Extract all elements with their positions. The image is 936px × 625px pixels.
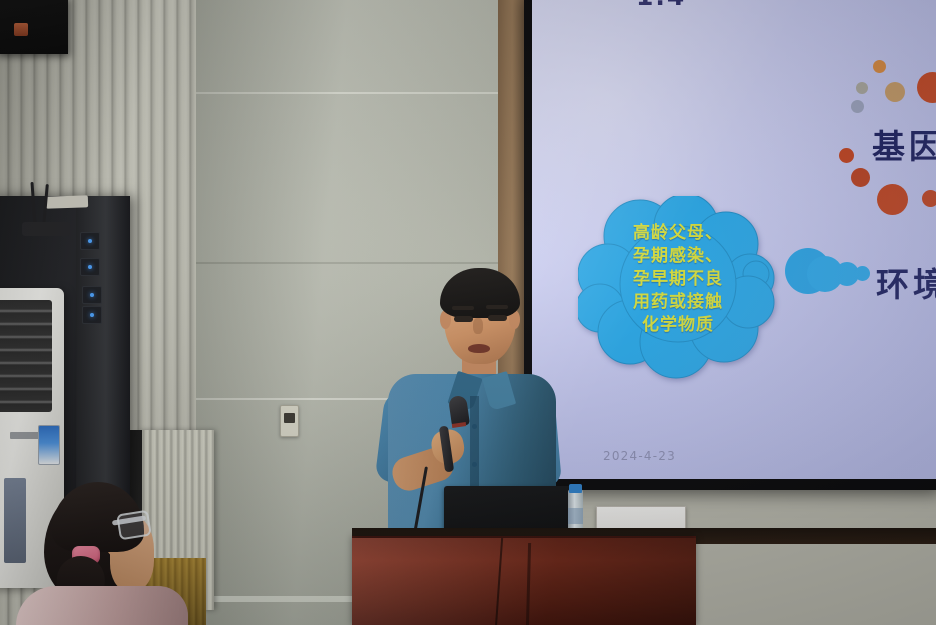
presenter-nose bbox=[473, 318, 483, 334]
speaker-logo-icon bbox=[14, 23, 28, 36]
presenter-eyebrow-left bbox=[452, 306, 474, 310]
slide-dot-gene bbox=[873, 60, 886, 73]
presenter-mouth bbox=[468, 344, 490, 353]
audience-shirt-shading bbox=[16, 586, 188, 625]
slide-dot-gene bbox=[877, 184, 908, 215]
slide-dot-gene bbox=[885, 82, 905, 102]
energy-efficiency-label bbox=[38, 425, 60, 465]
cloud-line: 用药或接触 bbox=[592, 291, 764, 314]
thought-cloud-text: 高龄父母、 孕期感染、 孕早期不良 用药或接触 化学物质 bbox=[592, 222, 764, 337]
slide-dot-gene bbox=[917, 72, 936, 103]
presenter-shirt-button bbox=[472, 462, 477, 467]
rack-status-led bbox=[82, 286, 102, 304]
presenter-eye-right bbox=[488, 315, 507, 321]
slide-dot-gene bbox=[922, 190, 936, 207]
slide-label-environment: 环境 bbox=[876, 258, 936, 306]
air-conditioner-control-panel bbox=[4, 478, 26, 563]
cloud-line: 高龄父母、 bbox=[592, 222, 764, 245]
rack-status-led bbox=[82, 306, 102, 324]
cloud-line: 孕早期不良 bbox=[592, 268, 764, 291]
rack-top-device bbox=[46, 195, 88, 208]
cloud-line: 化学物质 bbox=[592, 314, 764, 337]
lecture-photo: 1.4 高龄父母、 孕期感染、 孕早期不良 用药或接触 化学物质 bbox=[0, 0, 936, 625]
presenter-shirt-button bbox=[472, 424, 477, 429]
slide-dot-environment bbox=[855, 266, 870, 281]
cloud-line: 孕期感染、 bbox=[592, 245, 764, 268]
wall-speaker bbox=[0, 0, 68, 54]
slide-dot-gene bbox=[839, 148, 854, 163]
slide-dot-gene bbox=[851, 168, 870, 187]
slide-dot-gene bbox=[851, 100, 864, 113]
air-conditioner-grille bbox=[0, 300, 52, 412]
rack-status-led bbox=[80, 258, 100, 276]
wireless-router bbox=[22, 222, 70, 236]
podium-shading bbox=[352, 538, 696, 625]
rack-status-led bbox=[80, 232, 100, 250]
slide-date: 2024-4-23 bbox=[603, 449, 676, 463]
presenter-eyebrow-right bbox=[486, 305, 508, 309]
water-bottle-label bbox=[568, 508, 583, 524]
slide-label-gene: 基因 bbox=[872, 120, 936, 168]
slide-dot-gene bbox=[856, 82, 868, 94]
slide-title: 1.4 bbox=[636, 0, 936, 12]
wall-outlet-plate bbox=[280, 405, 299, 437]
glasses-lens bbox=[116, 510, 152, 541]
presenter-eye-left bbox=[454, 316, 473, 322]
water-bottle-cap bbox=[569, 484, 582, 493]
